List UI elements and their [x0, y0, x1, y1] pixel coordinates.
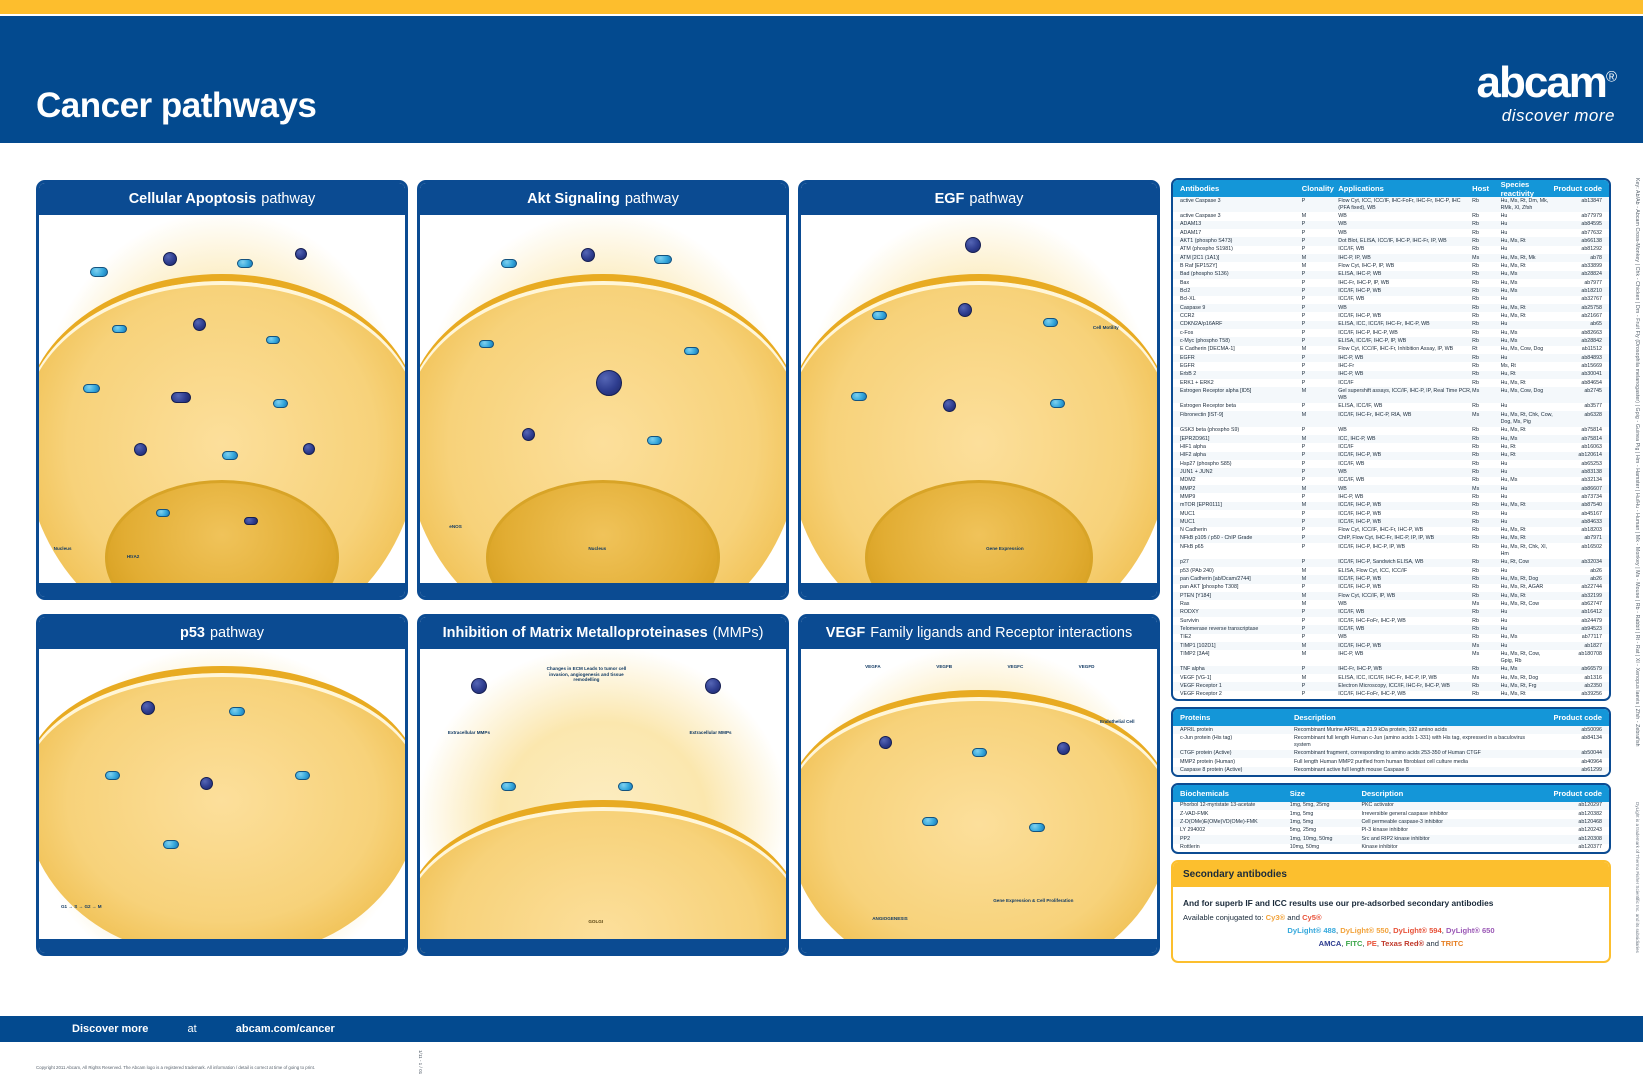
table-cell: p27: [1180, 559, 1302, 566]
table-cell: Ms: [1472, 388, 1500, 402]
table-cell: ICC/IF, WB: [1338, 477, 1472, 484]
table-cell: ab81292: [1553, 246, 1602, 253]
table-row[interactable]: active Caspase 3MWBRbHuab77979: [1173, 212, 1609, 220]
table-cell: Hu: [1501, 511, 1554, 518]
table-cell: Hu: [1501, 461, 1554, 468]
diagram-label: Nucleus: [54, 546, 72, 551]
table-cell: VEGF [VG-1]: [1180, 675, 1302, 682]
panel-body-akt-signaling: eNOS Nucleus: [420, 215, 786, 583]
table-cell: Src and RIP2 kinase inhibitor: [1361, 836, 1538, 843]
table-cell: ab180708: [1553, 651, 1602, 665]
table-cell: IHC-Fr, IHC-P, WB: [1338, 666, 1472, 673]
table-cell: c-Myc (phospho T58): [1180, 338, 1302, 345]
table-cell: Hu, Ms, Rt: [1501, 380, 1554, 387]
table-row[interactable]: RODXYPICC/IF, WBRbHuab16412: [1173, 609, 1609, 617]
table-row[interactable]: SurvivinPICC/IF, IHC-FoFr, IHC-P, WBRbHu…: [1173, 617, 1609, 625]
table-row[interactable]: Phorbol 12-myristate 13-acetate1mg, 5mg,…: [1173, 802, 1609, 810]
table-cell: ICC/IF, IHC-P, WB: [1338, 519, 1472, 526]
table-row[interactable]: TIE2PWBRbHu, Msab77117: [1173, 634, 1609, 642]
table-row[interactable]: MUC1PICC/IF, IHC-P, WBRbHuab84633: [1173, 518, 1609, 526]
pathway-node: [851, 392, 867, 401]
table-cell: ab84595: [1553, 221, 1602, 228]
table-row[interactable]: Caspase 8 protein (Active)Recombinant ac…: [1173, 767, 1609, 775]
table-row[interactable]: MMP2 protein (Human)Full length Human MM…: [1173, 758, 1609, 766]
diagram-label: Cell Motility: [1093, 325, 1119, 330]
table-cell: P: [1302, 626, 1339, 633]
panel-footer-bar: [420, 583, 786, 597]
table-cell: NFkB p105 / p50 - ChIP Grade: [1180, 535, 1302, 542]
table-cell: 1mg, 10mg, 50mg: [1290, 836, 1362, 843]
table-cell: ab1316: [1553, 675, 1602, 682]
table-cell: M: [1302, 263, 1339, 270]
table-row[interactable]: BaxPIHC-Fr, IHC-P, IP, WBRbHu, Msab7977: [1173, 279, 1609, 287]
table-cell: ICC/IF, IHC-P, IHC-P, WB: [1338, 330, 1472, 337]
table-row[interactable]: pan AKT [phospho T308]PICC/IF, IHC-P, WB…: [1173, 584, 1609, 592]
table-row[interactable]: Z-D(OMe)E(OMe)VD(OMe)-FMK1mg, 5mgCell pe…: [1173, 819, 1609, 827]
table-cell: EGFR: [1180, 363, 1302, 370]
pathway-node: [303, 443, 315, 455]
table-row[interactable]: ATM [2C1 (1A1)]MIHC-P, IP, WBMsHu, Ms, R…: [1173, 254, 1609, 262]
panel-vegf[interactable]: VEGFFamily ligands and Receptor interact…: [798, 614, 1160, 956]
table-cell: ICC/IF, WB: [1338, 461, 1472, 468]
table-cell: P: [1302, 584, 1339, 591]
conjugate-dylight-650: DyLight® 650: [1446, 926, 1495, 935]
table-cell: P: [1302, 666, 1339, 673]
panel-body-p53: G1 → S → G2 → M: [39, 649, 405, 939]
biochemicals-table-header: Biochemicals Size Description Product co…: [1173, 785, 1609, 802]
table-row[interactable]: c-FosPICC/IF, IHC-P, IHC-P, WBRbHu, Msab…: [1173, 329, 1609, 337]
table-row[interactable]: mTOR [EPR0111]MICC/IF, IHC-P, WBRbHu, Ms…: [1173, 502, 1609, 510]
table-cell: ab77979: [1553, 213, 1602, 220]
table-row[interactable]: c-Myc (phospho T58)PELISA, ICC/IF, IHC-P…: [1173, 337, 1609, 345]
proteins-table-header: Proteins Description Product code: [1173, 709, 1609, 726]
table-cell: Bax: [1180, 280, 1302, 287]
table-row[interactable]: [EPR2D961]MICC, IHC-P, WBRbHu, Msab75814: [1173, 435, 1609, 443]
table-row[interactable]: ADAM17PWBRbHuab77632: [1173, 229, 1609, 237]
table-row[interactable]: Telomerase reverse transcriptasePICC/IF,…: [1173, 625, 1609, 633]
pathway-node: [112, 325, 127, 333]
table-row[interactable]: B Raf [EP152Y]MFlow Cyt, IHC-P, IP, WBRb…: [1173, 262, 1609, 270]
table-row[interactable]: p53 (PAb 240)MELISA, Flow Cyt, ICC, ICC/…: [1173, 567, 1609, 575]
table-cell: ab50096: [1539, 727, 1602, 734]
pathway-node: [90, 267, 108, 277]
panel-body-mmp-inhibition: Extracellular MMPs Extracellular MMPs Ch…: [420, 649, 786, 939]
table-cell: ab18210: [1553, 288, 1602, 295]
table-cell: Rb: [1472, 584, 1500, 591]
table-row[interactable]: TNF alphaPIHC-Fr, IHC-P, WBRbHu, Msab665…: [1173, 666, 1609, 674]
table-cell: P: [1302, 280, 1339, 287]
table-cell: ab7977: [1553, 280, 1602, 287]
table-cell: ICC/IF: [1338, 444, 1472, 451]
panel-p53[interactable]: p53pathway G1 → S → G2 → M: [36, 614, 408, 956]
table-cell: 1mg, 5mg: [1290, 819, 1362, 826]
table-row[interactable]: Hsp27 (phospho S85)PICC/IF, WBRbHuab6525…: [1173, 460, 1609, 468]
table-cell: ab120468: [1539, 819, 1602, 826]
table-cell: MUC1: [1180, 519, 1302, 526]
table-cell: ELISA, ICC/IF, WB: [1338, 403, 1472, 410]
logo-wordmark: abcam: [1477, 58, 1606, 107]
table-cell: Hu, Ms: [1501, 634, 1554, 641]
table-cell: Ms: [1472, 651, 1500, 665]
table-row[interactable]: AKT1 (phospho S473)PDot Blot, ELISA, ICC…: [1173, 237, 1609, 245]
table-cell: P: [1302, 305, 1339, 312]
table-row[interactable]: PP21mg, 10mg, 50mgSrc and RIP2 kinase in…: [1173, 835, 1609, 843]
table-cell: Hu, Ms: [1501, 338, 1554, 345]
panel-footer-bar: [39, 939, 405, 953]
table-cell: P: [1302, 313, 1339, 320]
table-row[interactable]: MMP2MWBMsHuab86607: [1173, 485, 1609, 493]
diagram-label: Extracellular MMPs: [442, 730, 496, 735]
table-cell: Hu: [1501, 643, 1554, 650]
table-cell: ab75814: [1553, 427, 1602, 434]
pathway-node: [501, 782, 516, 791]
table-cell: Cell permeable caspase-3 inhibitor: [1361, 819, 1538, 826]
table-cell: M: [1302, 213, 1339, 220]
panel-cellular-apoptosis[interactable]: Cellular Apoptosispathway Nucleus HtrA2: [36, 180, 408, 600]
diagram-label: Gene Expression: [986, 546, 1024, 551]
table-cell: M: [1302, 412, 1339, 426]
table-cell: E Cadherin [DECMA-1]: [1180, 346, 1302, 353]
table-row[interactable]: APRIL proteinRecombinant Murine APRIL, a…: [1173, 726, 1609, 734]
table-cell: Hu, Ms, Rt, Frg: [1501, 683, 1554, 690]
table-cell: ab26: [1553, 576, 1602, 583]
table-cell: M: [1302, 346, 1339, 353]
table-cell: ICC/IF, IHC-FoFr, IHC-P, WB: [1338, 691, 1472, 698]
table-row[interactable]: VEGF Receptor 1PElectron Microscopy, ICC…: [1173, 682, 1609, 690]
table-cell: Hu, Ms, Rt: [1501, 313, 1554, 320]
table-row[interactable]: ATM (phospho S1981)PICC/IF, WBRbHuab8129…: [1173, 246, 1609, 254]
panel-mmp-inhibition[interactable]: Inhibition of Matrix Metalloproteinases(…: [417, 614, 789, 956]
table-cell: Survivin: [1180, 618, 1302, 625]
pathway-node: [171, 392, 191, 403]
table-row[interactable]: ErbB 2PIHC-P, WBRbHu, Rtab30041: [1173, 371, 1609, 379]
table-row[interactable]: TIMP2 [3A4]MIHC-P, WBMsHu, Ms, Rt, Cow, …: [1173, 650, 1609, 665]
table-cell: Hu, Rt: [1501, 452, 1554, 459]
diagram-label: Gene Expression & Cell Proliferation: [993, 898, 1073, 903]
table-cell: ab7971: [1553, 535, 1602, 542]
conjugate-amca: AMCA: [1319, 939, 1342, 948]
table-cell: P: [1302, 535, 1339, 542]
table-cell: Hu, Ms, Rt: [1501, 593, 1554, 600]
table-cell: ab120308: [1539, 836, 1602, 843]
table-cell: Irreversible general caspase inhibitor: [1361, 811, 1538, 818]
panel-egf[interactable]: EGFpathway Gene Expression Cell Motility: [798, 180, 1160, 600]
table-cell: ELISA, ICC, ICC/IF, IHC-Fr, IHC-P, WB: [1338, 321, 1472, 328]
table-row[interactable]: TIMP1 [102D1]MICC/IF, IHC-P, WBMsHuab182…: [1173, 642, 1609, 650]
table-row[interactable]: CTGF protein (Active)Recombinant fragmen…: [1173, 750, 1609, 758]
footer-bar[interactable]: Discover more at abcam.com/cancer: [0, 1016, 1643, 1042]
table-cell: ab66579: [1553, 666, 1602, 673]
panel-footer-bar: [39, 583, 405, 597]
table-cell: Rb: [1472, 609, 1500, 616]
table-cell: ab16063: [1553, 444, 1602, 451]
table-cell: WB: [1338, 427, 1472, 434]
col-antibodies: Antibodies: [1180, 184, 1302, 193]
panel-body-vegf: VEGFA VEGFB VEGFC VEGFD Endothelial Cell…: [801, 649, 1157, 939]
conjugate-dylight-488: DyLight® 488: [1287, 926, 1336, 935]
table-cell: ATM (phospho S1981): [1180, 246, 1302, 253]
table-cell: ab84134: [1539, 735, 1602, 749]
table-row[interactable]: Rottlerin10mg, 50mgKinase inhibitorab120…: [1173, 844, 1609, 852]
table-cell: Rb: [1472, 330, 1500, 337]
pathway-node: [647, 436, 662, 445]
table-cell: ab33899: [1553, 263, 1602, 270]
table-cell: Hu, Ms, Cow, Dog: [1501, 346, 1554, 353]
table-cell: ab84893: [1553, 355, 1602, 362]
pathway-node: [273, 399, 288, 408]
top-gold-strip: [0, 0, 1643, 14]
table-cell: Rb: [1472, 477, 1500, 484]
table-row[interactable]: EGFRPIHC-P, WBRbHuab84893: [1173, 354, 1609, 362]
table-cell: P: [1302, 321, 1339, 328]
table-cell: ab2745: [1553, 388, 1602, 402]
table-cell: Rb: [1472, 559, 1500, 566]
table-cell: P: [1302, 296, 1339, 303]
table-cell: Hu, Ms, Rt: [1501, 427, 1554, 434]
table-cell: Rb: [1472, 568, 1500, 575]
table-cell: c-Fos: [1180, 330, 1302, 337]
table-cell: ab32199: [1553, 593, 1602, 600]
table-row[interactable]: CCR2PICC/IF, IHC-P, WBRbHu, Ms, Rtab2166…: [1173, 312, 1609, 320]
table-cell: active Caspase 3: [1180, 198, 1302, 212]
table-cell: ab65: [1553, 321, 1602, 328]
table-cell: ICC/IF, IHC-P, WB: [1338, 502, 1472, 509]
table-cell: HIF1 alpha: [1180, 444, 1302, 451]
table-cell: TIE2: [1180, 634, 1302, 641]
table-cell: ICC/IF, IHC-Fr, IHC-P, RIA, WB: [1338, 412, 1472, 426]
proteins-table: Proteins Description Product code APRIL …: [1171, 707, 1611, 777]
table-cell: M: [1302, 502, 1339, 509]
conj-and-2: and: [1426, 939, 1439, 948]
table-row[interactable]: NFkB p65PICC/IF, IHC-P, IHC-P, IP, WBRbH…: [1173, 543, 1609, 558]
table-cell: Ms, Rt: [1501, 363, 1554, 370]
table-cell: Hu: [1501, 230, 1554, 237]
secondary-antibodies-box: Secondary antibodies And for superb IF a…: [1171, 860, 1611, 964]
table-cell: P: [1302, 511, 1339, 518]
table-row[interactable]: MUC1PICC/IF, IHC-P, WBRbHuab45167: [1173, 510, 1609, 518]
table-row[interactable]: p27PICC/IF, IHC-P, Sandwich ELISA, WBRbH…: [1173, 559, 1609, 567]
table-cell: IHC-P, WB: [1338, 371, 1472, 378]
biochemicals-table: Biochemicals Size Description Product co…: [1171, 783, 1611, 854]
table-cell: GSK3 beta (phospho S9): [1180, 427, 1302, 434]
table-row[interactable]: VEGF Receptor 2PICC/IF, IHC-FoFr, IHC-P,…: [1173, 691, 1609, 699]
table-cell: NFkB p65: [1180, 544, 1302, 558]
table-cell: Rb: [1472, 213, 1500, 220]
table-cell: Recombinant Murine APRIL, a 21.9 kDa pro…: [1294, 727, 1539, 734]
table-row[interactable]: MMP9PIHC-P, WBRbHuab73734: [1173, 493, 1609, 501]
table-cell: Hu, Ms, Rt: [1501, 238, 1554, 245]
table-cell: WB: [1338, 230, 1472, 237]
table-cell: Full length Human MMP2 purified from hum…: [1294, 759, 1539, 766]
secondary-line-3: DyLight® 488, DyLight® 550, DyLight® 594…: [1183, 924, 1599, 937]
table-row[interactable]: NFkB p105 / p50 - ChIP GradePChIP, Flow …: [1173, 535, 1609, 543]
table-cell: Rb: [1472, 321, 1500, 328]
table-row[interactable]: LY 2940025mg, 25mgPI-3 kinase inhibitora…: [1173, 827, 1609, 835]
registered-trademark-icon: ®: [1606, 68, 1615, 85]
table-cell: PI-3 kinase inhibitor: [1361, 827, 1538, 834]
cell-outline: [798, 690, 1160, 956]
table-cell: P: [1302, 330, 1339, 337]
table-row[interactable]: active Caspase 3PFlow Cyt, ICC, ICC/IF, …: [1173, 197, 1609, 212]
table-cell: Hu, Ms, Rt: [1501, 305, 1554, 312]
panel-akt-signaling[interactable]: Akt Signalingpathway eNOS Nucleus: [417, 180, 789, 600]
table-cell: P: [1302, 527, 1339, 534]
pathway-node: [479, 340, 494, 348]
panel-body-cellular-apoptosis: Nucleus HtrA2: [39, 215, 405, 583]
table-row[interactable]: CDKN2A/p16ARFPELISA, ICC, ICC/IF, IHC-Fr…: [1173, 321, 1609, 329]
pathway-node: [654, 255, 672, 264]
table-cell: PKC activator: [1361, 802, 1538, 809]
pathway-node: [1050, 399, 1065, 408]
table-cell: Rb: [1472, 246, 1500, 253]
table-cell: Rb: [1472, 313, 1500, 320]
table-row[interactable]: E Cadherin [DECMA-1]MFlow Cyt, ICC/IF, I…: [1173, 346, 1609, 354]
table-cell: 1mg, 5mg: [1290, 811, 1362, 818]
table-cell: ab50044: [1539, 750, 1602, 757]
table-row[interactable]: Bcl-XLPICC/IF, WBRbHuab32767: [1173, 296, 1609, 304]
table-cell: Ms: [1472, 675, 1500, 682]
table-cell: Hu, Ms: [1501, 436, 1554, 443]
table-row[interactable]: Bcl2PICC/IF, IHC-P, WBRbHu, Msab18210: [1173, 287, 1609, 295]
table-cell: ab78: [1553, 255, 1602, 262]
table-cell: M: [1302, 643, 1339, 650]
table-cell: Rb: [1472, 271, 1500, 278]
table-row[interactable]: Caspase 9PWBRbHu, Ms, Rtab25758: [1173, 304, 1609, 312]
table-cell: Rb: [1472, 238, 1500, 245]
table-cell: WB: [1338, 634, 1472, 641]
table-row[interactable]: Estrogen Receptor alpha [ID5]MGel supers…: [1173, 387, 1609, 402]
biochemicals-table-body: Phorbol 12-myristate 13-acetate1mg, 5mg,…: [1173, 802, 1609, 852]
table-cell: HIF2 alpha: [1180, 452, 1302, 459]
table-cell: Flow Cyt, IHC-P, IP, WB: [1338, 263, 1472, 270]
table-cell: P: [1302, 469, 1339, 476]
panel-title-akt-signaling: Akt Signalingpathway: [420, 183, 786, 215]
table-cell: Hu, Ms, Rt, Cow: [1501, 601, 1554, 608]
table-cell: Caspase 8 protein (Active): [1180, 767, 1294, 774]
table-cell: Recombinant full length Human c-Jun (ami…: [1294, 735, 1539, 749]
table-row[interactable]: c-Jun protein (His tag)Recombinant full …: [1173, 734, 1609, 749]
table-row[interactable]: N CadherinPFlow Cyt, ICC/IF, IHC-Fr, IHC…: [1173, 527, 1609, 535]
pathway-node: [156, 509, 170, 517]
table-cell: P: [1302, 246, 1339, 253]
table-cell: P: [1302, 198, 1339, 212]
table-cell: M: [1302, 675, 1339, 682]
pathway-node: [972, 748, 987, 757]
table-cell: Hu, Ms, Rt: [1501, 527, 1554, 534]
table-row[interactable]: RasMWBMsHu, Ms, Rt, Cowab62747: [1173, 600, 1609, 608]
table-cell: Rb: [1472, 691, 1500, 698]
table-cell: Flow Cyt, ICC/IF, IHC-Fr, IHC-P, WB: [1338, 527, 1472, 534]
table-cell: ICC/IF, IHC-P, WB: [1338, 452, 1472, 459]
table-cell: EGFR: [1180, 355, 1302, 362]
pathway-node: [501, 259, 517, 268]
table-cell: Rb: [1472, 230, 1500, 237]
table-cell: Hu, Ms: [1501, 330, 1554, 337]
table-cell: WB: [1338, 221, 1472, 228]
cell-outline: [36, 666, 408, 956]
col-host: Host: [1472, 184, 1500, 193]
table-cell: M: [1302, 388, 1339, 402]
table-cell: Flow Cyt, ICC, ICC/IF, IHC-FoFr, IHC-Fr,…: [1338, 198, 1472, 212]
table-cell: Rb: [1472, 280, 1500, 287]
pathway-node: [618, 782, 633, 791]
table-cell: Ms: [1472, 643, 1500, 650]
table-cell: Rb: [1472, 452, 1500, 459]
table-cell: Rb: [1472, 502, 1500, 509]
table-row[interactable]: HIF1 alphaPICC/IFRbHu, Rtab16063: [1173, 443, 1609, 451]
table-cell: ab1827: [1553, 643, 1602, 650]
table-cell: Electron Microscopy, ICC/IF, IHC-Fr, IHC…: [1338, 683, 1472, 690]
table-cell: IHC-P, WB: [1338, 651, 1472, 665]
table-row[interactable]: JUN1 + JUN2PWBRbHuab83138: [1173, 468, 1609, 476]
table-cell: TIMP1 [102D1]: [1180, 643, 1302, 650]
table-cell: Rb: [1472, 576, 1500, 583]
table-cell: ab3577: [1553, 403, 1602, 410]
table-row[interactable]: EGFRPIHC-FrRbMs, Rtab15669: [1173, 362, 1609, 370]
table-cell: M: [1302, 436, 1339, 443]
table-cell: ab65253: [1553, 461, 1602, 468]
table-row[interactable]: ADAM13PWBRbHuab84595: [1173, 221, 1609, 229]
table-row[interactable]: Estrogen Receptor betaPELISA, ICC/IF, WB…: [1173, 403, 1609, 411]
table-cell: P: [1302, 380, 1339, 387]
diagram-label: HtrA2: [127, 554, 140, 559]
table-cell: ab120377: [1539, 844, 1602, 851]
conjugate-tritc: TRITC: [1441, 939, 1463, 948]
table-row[interactable]: Bad (phospho S136)PELISA, IHC-P, WBRbHu,…: [1173, 271, 1609, 279]
secondary-line-4: AMCA, FITC, PE, Texas Red® and TRITC: [1183, 937, 1599, 950]
conjugate-cy5: Cy5®: [1302, 913, 1322, 922]
table-cell: ab77632: [1553, 230, 1602, 237]
antibodies-table-header: Antibodies Clonality Applications Host S…: [1173, 180, 1609, 197]
table-cell: IHC-P, WB: [1338, 494, 1472, 501]
table-cell: ab15669: [1553, 363, 1602, 370]
table-row[interactable]: GSK3 beta (phospho S9)PWBRbHu, Ms, Rtab7…: [1173, 427, 1609, 435]
table-cell: Hu: [1501, 618, 1554, 625]
table-cell: IHC-P, WB: [1338, 355, 1472, 362]
table-row[interactable]: Fibronectin [IST-9]MICC/IF, IHC-Fr, IHC-…: [1173, 411, 1609, 426]
table-row[interactable]: HIF2 alphaPICC/IF, IHC-P, WBRbHu, Rtab12…: [1173, 452, 1609, 460]
diagram-label: ANGIOGENESIS: [872, 916, 907, 921]
table-cell: ab120614: [1553, 452, 1602, 459]
table-row[interactable]: VEGF [VG-1]MELISA, ICC, ICC/IF, IHC-Fr, …: [1173, 674, 1609, 682]
table-cell: Hu, Ms: [1501, 288, 1554, 295]
table-row[interactable]: ERK1 + ERK2PICC/IFRbHu, Ms, Rtab84654: [1173, 379, 1609, 387]
table-cell: P: [1302, 230, 1339, 237]
table-cell: ab120297: [1539, 802, 1602, 809]
table-cell: Flow Cyt, ICC/IF, IHC-Fr, Inhibition Ass…: [1338, 346, 1472, 353]
table-cell: Hu: [1501, 221, 1554, 228]
table-row[interactable]: Z-VAD-FMK1mg, 5mgIrreversible general ca…: [1173, 810, 1609, 818]
table-row[interactable]: pan Cadherin [ab/Dcam/2744]MICC/IF, IHC-…: [1173, 575, 1609, 583]
proteins-table-body: APRIL proteinRecombinant Murine APRIL, a…: [1173, 726, 1609, 775]
table-cell: active Caspase 3: [1180, 213, 1302, 220]
table-cell: Z-VAD-FMK: [1180, 811, 1290, 818]
table-cell: MUC1: [1180, 511, 1302, 518]
table-cell: ADAM13: [1180, 221, 1302, 228]
table-cell: P: [1302, 618, 1339, 625]
table-cell: Hu, Ms, Rt, Chk, Cow, Dog, Ms, Pig: [1501, 412, 1554, 426]
table-cell: B Raf [EP152Y]: [1180, 263, 1302, 270]
table-row[interactable]: MDM2PICC/IF, WBRbHu, Msab32134: [1173, 477, 1609, 485]
table-cell: ab26: [1553, 568, 1602, 575]
table-cell: Rb: [1472, 371, 1500, 378]
table-cell: Hu: [1501, 609, 1554, 616]
table-row[interactable]: PTEN [Y184]MFlow Cyt, ICC/IF, IP, WBRbHu…: [1173, 592, 1609, 600]
diagram-label: Nucleus: [588, 546, 606, 551]
table-cell: ADAM17: [1180, 230, 1302, 237]
table-cell: ELISA, ICC/IF, IHC-P, IP, WB: [1338, 338, 1472, 345]
pathway-node: [200, 777, 213, 790]
